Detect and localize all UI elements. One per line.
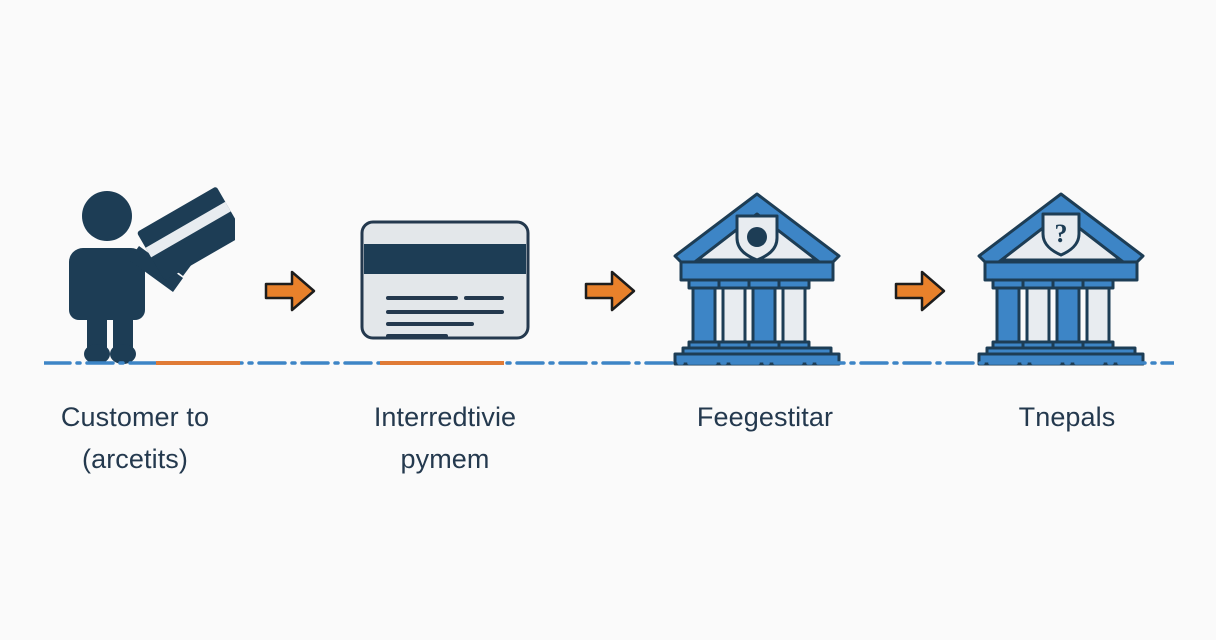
person-holding-card-icon (15, 180, 255, 370)
svg-text:?: ? (1055, 219, 1068, 248)
stage-payment-card[interactable] (325, 170, 565, 370)
caption-acquiring-bank-line1: Feegestitar (697, 402, 833, 432)
arrow-2-icon (582, 266, 638, 316)
caption-issuing-bank: Tnepals (937, 396, 1197, 438)
baseline-divider (44, 354, 1174, 362)
caption-customer-line2: (arcetits) (5, 438, 265, 480)
credit-card-icon (325, 180, 565, 370)
caption-customer: Customer to (arcetits) (5, 396, 265, 480)
caption-payment-card-line2: pymem (315, 438, 575, 480)
stage-issuing-bank[interactable]: ? (941, 170, 1181, 370)
caption-payment-card-line1: Interredtivie (374, 402, 516, 432)
flow-row: ? (0, 170, 1216, 370)
caption-acquiring-bank: Feegestitar (635, 396, 895, 438)
caption-payment-card: Interredtivie pymem (315, 396, 575, 480)
arrow-1-icon (262, 266, 318, 316)
stage-acquiring-bank[interactable] (637, 170, 877, 370)
caption-issuing-bank-line1: Tnepals (1019, 402, 1116, 432)
stage-customer[interactable] (15, 170, 255, 370)
captions-row: Customer to (arcetits) Interredtivie pym… (0, 396, 1216, 506)
bank-question-icon: ? (941, 180, 1181, 370)
caption-customer-line1: Customer to (61, 402, 209, 432)
arrow-3-icon (892, 266, 948, 316)
diagram-canvas: ? Customer to (arcetits) Interredtivie p… (0, 0, 1216, 640)
bank-shield-icon (637, 180, 877, 370)
